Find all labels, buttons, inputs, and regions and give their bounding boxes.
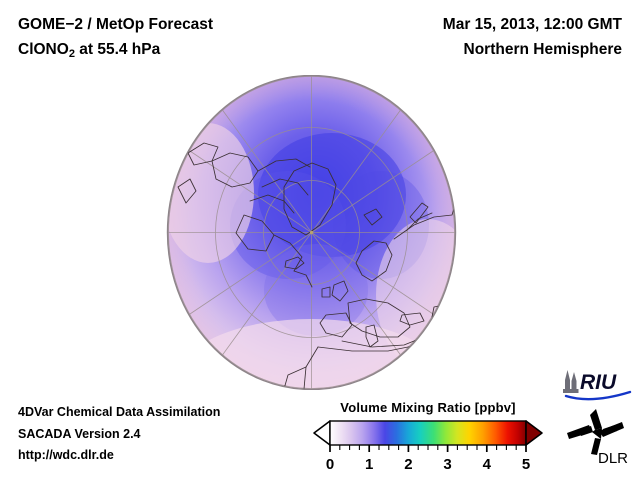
colorbar-title: Volume Mixing Ratio [ppbv] [312, 400, 544, 415]
riu-wordmark: RIU [580, 371, 617, 394]
riu-logo-mark: RIU [560, 367, 632, 401]
colorbar-low-cap [314, 421, 330, 445]
forecast-region: Northern Hemisphere [443, 37, 622, 62]
credits-line-method: 4DVar Chemical Data Assimilation [18, 402, 220, 424]
dlr-logo-mark: DLR [565, 408, 631, 466]
forecast-title: GOME−2 / MetOp Forecast [18, 12, 213, 37]
colorbar: Volume Mixing Ratio [ppbv] [312, 400, 544, 475]
colorbar-scale: 0 1 2 3 4 5 [312, 419, 544, 475]
header-right: Mar 15, 2013, 12:00 GMT Northern Hemisph… [443, 12, 622, 62]
forecast-datetime: Mar 15, 2013, 12:00 GMT [443, 12, 622, 37]
north-pole-marker [310, 231, 313, 234]
credits-line-url[interactable]: http://wdc.dlr.de [18, 445, 220, 467]
colorbar-tick-labels: 0 1 2 3 4 5 [326, 456, 530, 473]
figure-canvas: GOME−2 / MetOp Forecast ClONO2 at 55.4 h… [0, 0, 640, 480]
colorbar-tick-label: 2 [404, 456, 412, 473]
riu-logo: RIU [560, 367, 632, 406]
globe-map [166, 75, 457, 390]
dlr-logo: DLR [565, 408, 631, 471]
colorbar-tick-label: 1 [365, 456, 373, 473]
species-title: ClONO2 at 55.4 hPa [18, 37, 213, 64]
orthographic-projection [166, 75, 457, 390]
colorbar-tick-label: 3 [443, 456, 451, 473]
dlr-wordmark: DLR [598, 450, 628, 466]
species-level: at 55.4 hPa [75, 41, 160, 58]
colorbar-tick-label: 4 [483, 456, 492, 473]
dlr-star-icon [567, 409, 624, 455]
colorbar-tick-label: 0 [326, 456, 334, 473]
credits-block: 4DVar Chemical Data Assimilation SACADA … [18, 402, 220, 467]
colorbar-high-cap [526, 421, 542, 445]
colorbar-gradient [330, 421, 526, 445]
colorbar-tick-label: 5 [522, 456, 530, 473]
colorbar-ticks [330, 445, 526, 452]
coastline-arabia [426, 333, 454, 367]
species-subscript: 2 [69, 48, 75, 60]
credits-line-version: SACADA Version 2.4 [18, 424, 220, 446]
low-band-pacific [166, 123, 254, 263]
cathedral-icon [563, 370, 579, 393]
species-formula: ClONO [18, 41, 69, 58]
header-left: GOME−2 / MetOp Forecast ClONO2 at 55.4 h… [18, 12, 213, 64]
